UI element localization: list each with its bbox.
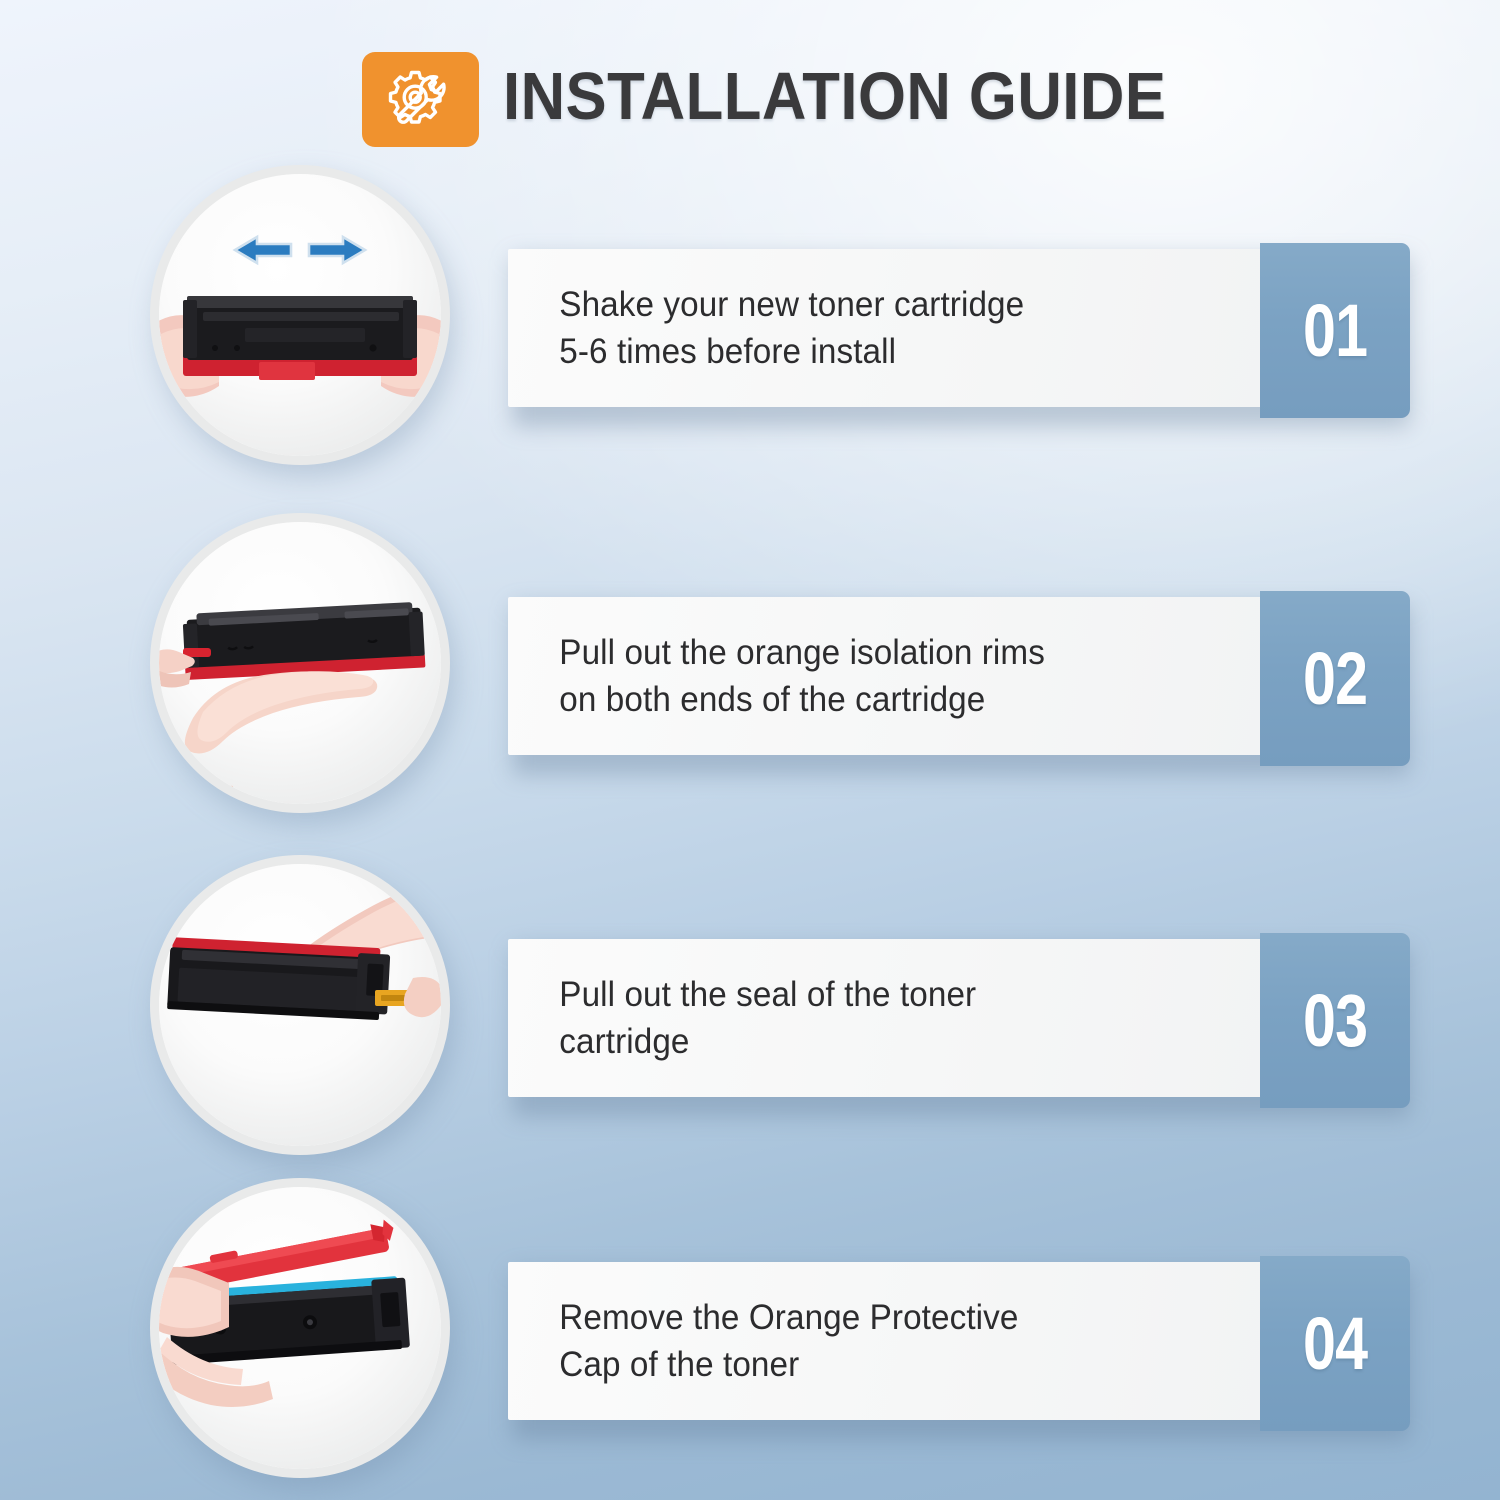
step-description: Remove the Orange Protective Cap of the …	[508, 1294, 1051, 1389]
step-number-badge: 03	[1260, 933, 1410, 1108]
photo-frame	[150, 855, 450, 1155]
step-number-badge: 01	[1260, 243, 1410, 418]
photo-image	[159, 174, 441, 456]
step-card-body: Pull out the orange isolation rims on bo…	[508, 597, 1270, 755]
photo-frame	[150, 513, 450, 813]
step-item: Pull out the seal of the toner cartridge…	[0, 855, 1500, 1185]
step-number: 03	[1303, 984, 1367, 1058]
pull-isolation-rims-photo	[150, 513, 450, 813]
step-number: 01	[1303, 294, 1367, 368]
step-item: Remove the Orange Protective Cap of the …	[0, 1178, 1500, 1500]
step-card-body: Pull out the seal of the toner cartridge	[508, 939, 1270, 1097]
pull-seal-photo	[150, 855, 450, 1155]
step-description: Pull out the seal of the toner cartridge	[508, 971, 1009, 1066]
supporting-hand	[159, 671, 377, 804]
steps-list: Shake your new toner cartridge 5-6 times…	[0, 0, 1500, 1500]
step-number: 02	[1303, 642, 1367, 716]
step-card-body: Shake your new toner cartridge 5-6 times…	[508, 249, 1270, 407]
shake-cartridge-photo	[150, 165, 450, 465]
step-card: Pull out the seal of the toner cartridge…	[508, 933, 1410, 1108]
step-number-badge: 04	[1260, 1256, 1410, 1431]
step-card: Pull out the orange isolation rims on bo…	[508, 591, 1410, 766]
remove-protective-cap-photo	[150, 1178, 450, 1478]
step-number: 04	[1303, 1307, 1367, 1381]
installation-guide-page: INSTALLATION GUIDE	[0, 0, 1500, 1500]
photo-image	[159, 864, 441, 1146]
step-card-body: Remove the Orange Protective Cap of the …	[508, 1262, 1270, 1420]
step-item: Shake your new toner cartridge 5-6 times…	[0, 165, 1500, 495]
photo-image	[159, 1187, 441, 1469]
photo-image	[159, 522, 441, 804]
step-card: Shake your new toner cartridge 5-6 times…	[508, 243, 1410, 418]
photo-frame	[150, 1178, 450, 1478]
pinching-fingers	[404, 977, 441, 1017]
step-description: Shake your new toner cartridge 5-6 times…	[508, 281, 1057, 376]
step-description: Pull out the orange isolation rims on bo…	[508, 629, 1077, 724]
shake-arrows	[235, 237, 365, 263]
step-item: Pull out the orange isolation rims on bo…	[0, 513, 1500, 843]
step-number-badge: 02	[1260, 591, 1410, 766]
photo-frame	[150, 165, 450, 465]
step-card: Remove the Orange Protective Cap of the …	[508, 1256, 1410, 1431]
